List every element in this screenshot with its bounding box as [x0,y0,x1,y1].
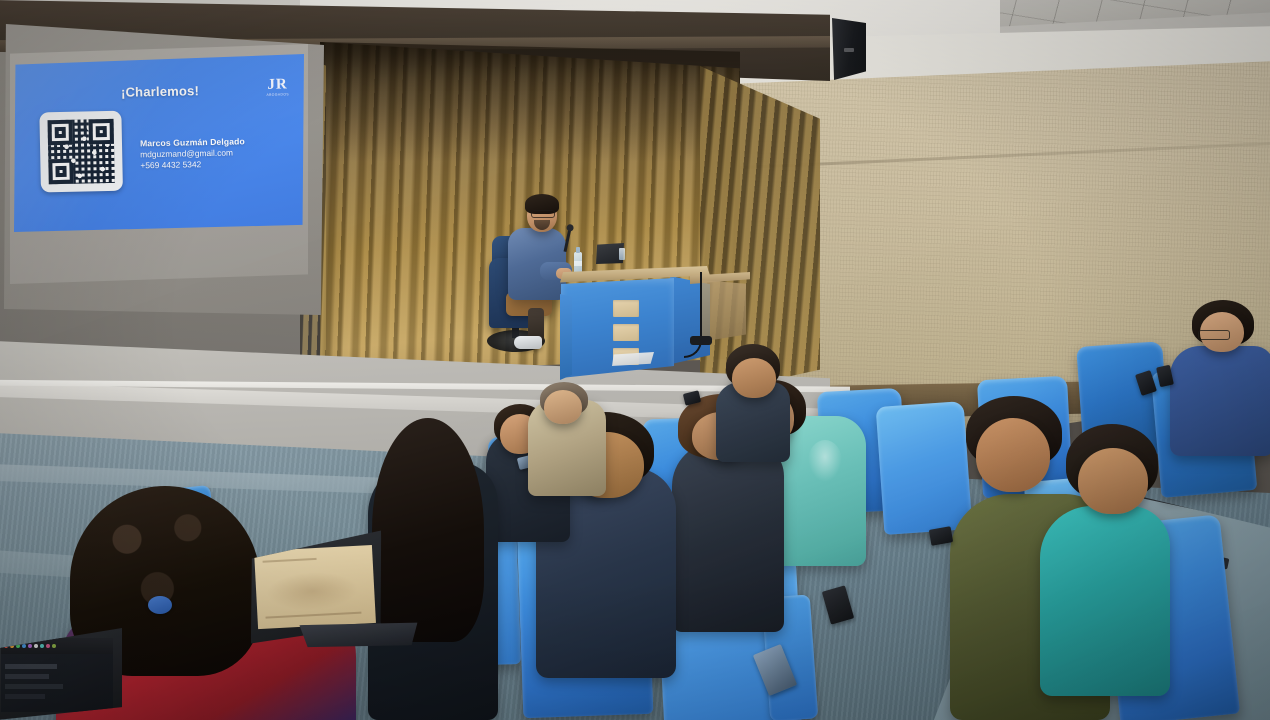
presentation-slide: ¡Charlemos! JR ABOGADOS Marcos Guzmán De… [14,54,304,232]
attendee-head [544,390,582,424]
desk-accent-panel [613,300,639,317]
attendee-head [1078,448,1148,514]
attendee-body [1040,506,1170,696]
attendee-body [672,442,784,632]
qr-code-icon [39,111,123,193]
wall-speaker-icon [832,18,866,80]
presenter-shoe [514,336,542,349]
attendee-body [1170,346,1270,456]
glasses-icon [1198,330,1230,340]
seat[interactable] [876,401,973,535]
jr-logo: JR ABOGADOS [266,77,289,97]
jr-logo-text: JR [267,76,288,92]
hoodie-graphic [808,440,842,482]
attendee-head [976,418,1050,492]
contact-phone: +569 4432 5342 [140,159,245,172]
desk-leg [560,294,572,380]
desk-accent-panel [613,324,639,341]
drinking-glass [619,248,625,260]
slide-contact-block: Marcos Guzmán Delgado mdguzmand@gmail.co… [140,136,245,172]
cable [684,272,702,358]
attendee-head [732,358,776,398]
hair-tie [148,596,172,614]
stage-curtain-shadow [320,42,740,162]
presenter-glasses-icon [531,210,555,218]
desk-ledge-support [700,280,746,342]
attendee-hair-long [372,418,484,642]
jr-logo-subtext: ABOGADOS [266,93,289,97]
slide-title: ¡Charlemos! [121,83,199,100]
cable-connector [690,336,712,345]
auditorium-photo: ¡Charlemos! JR ABOGADOS Marcos Guzmán De… [0,0,1270,720]
